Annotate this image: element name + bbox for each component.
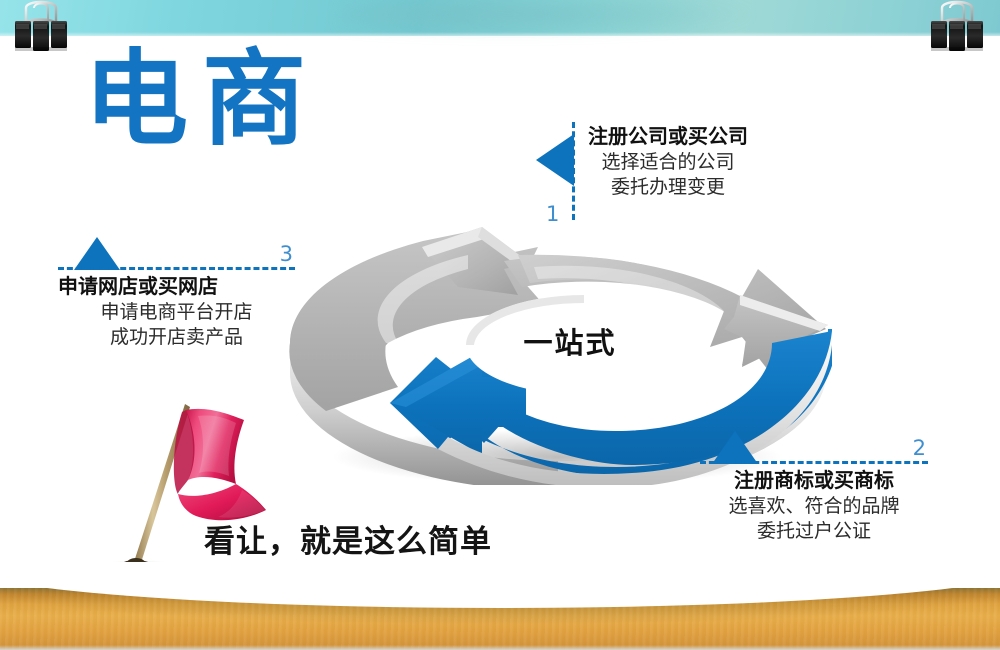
tagline-headline: 看让，就是这么简单 xyxy=(204,516,492,561)
step-3-rule: 3 xyxy=(58,234,295,270)
step-2-triangle-up-icon xyxy=(712,431,758,464)
banner-blur-accent xyxy=(340,0,760,36)
step-3-heading: 申请网店或买网店 xyxy=(58,274,295,300)
step-1-text: 注册公司或买公司 选择适合的公司 委托办理变更 xyxy=(588,124,748,200)
step-2-line-2: 委托过户公证 xyxy=(700,519,928,544)
step-3-line-1: 申请电商平台开店 xyxy=(58,300,295,325)
step-1-line-1: 选择适合的公司 xyxy=(588,150,748,175)
step-1-line-2: 委托办理变更 xyxy=(588,175,748,200)
binder-clip-right-icon xyxy=(926,0,988,56)
step-2-heading: 注册商标或买商标 xyxy=(700,468,928,494)
page-title: 电商 xyxy=(84,44,320,156)
step-1-triangle-left-icon xyxy=(536,134,574,186)
step-3-line-2: 成功开店卖产品 xyxy=(58,325,295,350)
step-3[interactable]: 3 申请网店或买网店 申请电商平台开店 成功开店卖产品 xyxy=(58,234,295,350)
step-2-rule: 2 xyxy=(700,428,928,464)
bottom-wheat-band xyxy=(0,588,1000,650)
step-1-number: 1 xyxy=(546,202,559,226)
step-2-line-1: 选喜欢、符合的品牌 xyxy=(700,494,928,519)
step-3-triangle-up-icon xyxy=(74,237,120,270)
step-3-number: 3 xyxy=(280,242,293,266)
step-3-dashed-line xyxy=(58,267,295,270)
binder-clip-left-icon xyxy=(10,0,72,56)
step-1-heading: 注册公司或买公司 xyxy=(588,124,748,150)
top-teal-banner xyxy=(0,0,1000,36)
step-2[interactable]: 2 注册商标或买商标 选喜欢、符合的品牌 委托过户公证 xyxy=(700,428,928,544)
slide-canvas: 电商 xyxy=(0,0,1000,650)
step-2-dashed-line xyxy=(700,461,928,464)
step-2-number: 2 xyxy=(913,436,926,460)
